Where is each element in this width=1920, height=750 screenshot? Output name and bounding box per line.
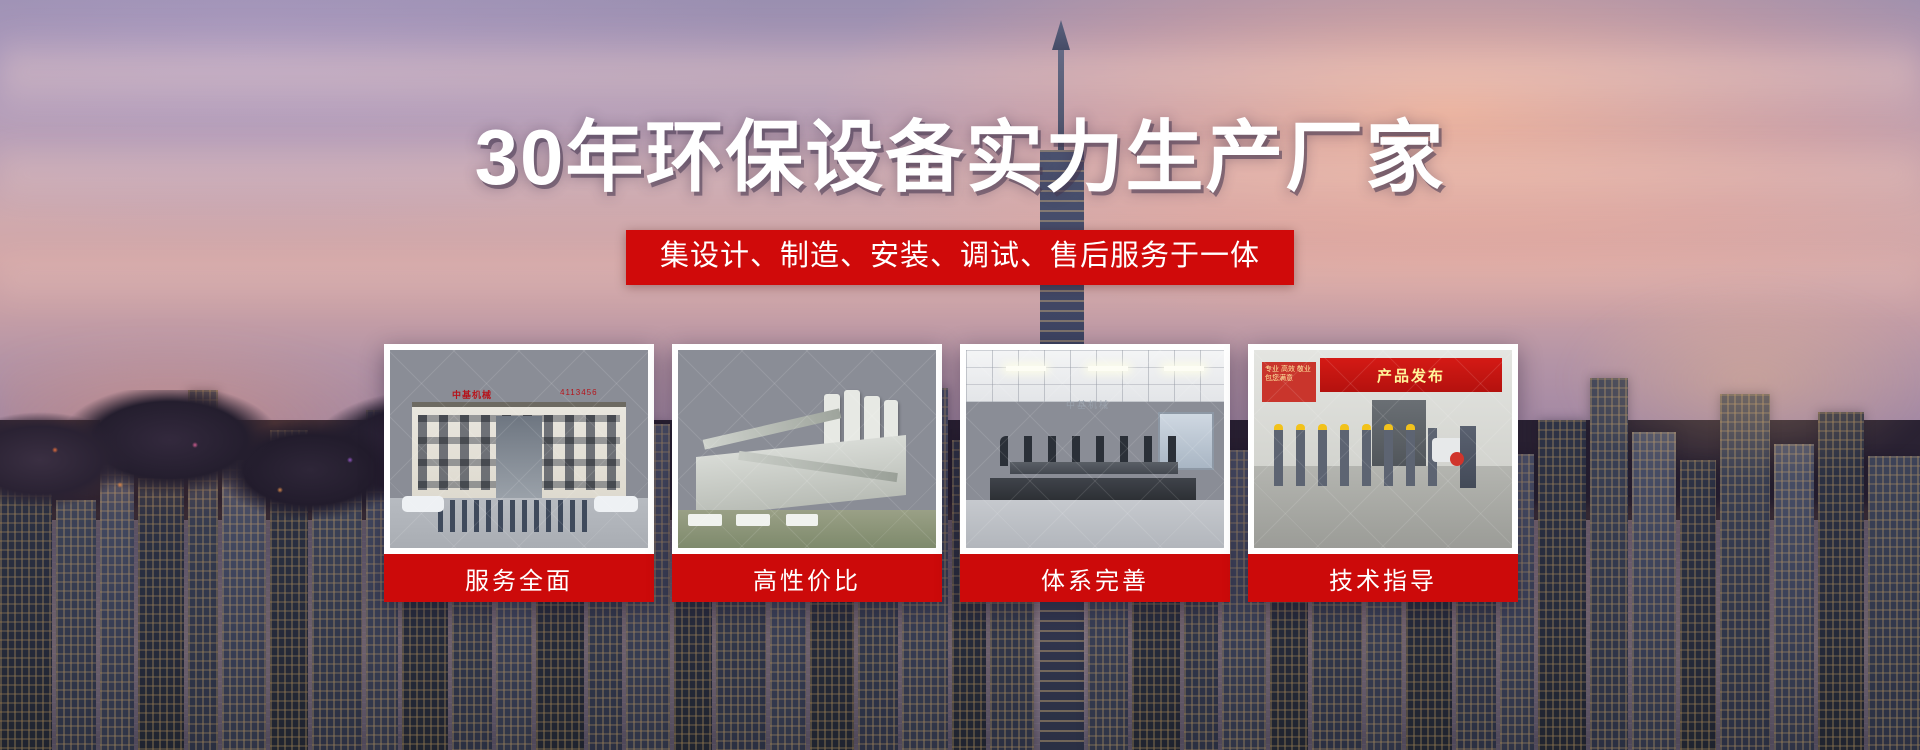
safety-helmet bbox=[1274, 424, 1283, 430]
card-caption: 服务全面 bbox=[384, 554, 654, 602]
wall-logo-text: 中基机械 bbox=[1066, 398, 1110, 411]
office-ceiling bbox=[966, 350, 1224, 402]
ceiling-light bbox=[1088, 366, 1128, 371]
hero-banner: 30年环保设备实力生产厂家 集设计、制造、安装、调试、售后服务于一体 中基机械 … bbox=[0, 0, 1920, 750]
workshop-red-banner: 产品发布 bbox=[1320, 358, 1502, 392]
safety-helmet bbox=[1340, 424, 1349, 430]
parked-car bbox=[594, 496, 638, 512]
truck bbox=[736, 514, 770, 526]
card-caption: 技术指导 bbox=[1248, 554, 1518, 602]
ceiling-light bbox=[1006, 366, 1046, 371]
feature-card[interactable]: 高性价比 bbox=[672, 344, 942, 602]
safety-helmet bbox=[1296, 424, 1305, 430]
city-night-glow bbox=[1560, 280, 1920, 480]
safety-helmet bbox=[1362, 424, 1371, 430]
safety-helmet bbox=[1318, 424, 1327, 430]
worker-group bbox=[1274, 428, 1440, 486]
page-title: 30年环保设备实力生产厂家 bbox=[0, 118, 1920, 196]
feature-card[interactable]: 专业 高效 敬业 包您满意 产品发布 技术指导 bbox=[1248, 344, 1518, 602]
feature-card[interactable]: 中基机械 体系完善 bbox=[960, 344, 1230, 602]
company-phone-text: 4113456 bbox=[560, 388, 598, 397]
tower-spire-tip bbox=[1052, 20, 1070, 50]
ceiling-light bbox=[1164, 366, 1204, 371]
silo-tank bbox=[844, 390, 860, 446]
feature-card-row: 中基机械 4113456 服务全面 bbox=[384, 344, 1536, 602]
building-entrance bbox=[496, 416, 542, 498]
truck bbox=[688, 514, 722, 526]
card-photo-office-building: 中基机械 4113456 bbox=[390, 350, 648, 548]
staff-lineup bbox=[438, 500, 588, 532]
parked-car bbox=[402, 496, 444, 512]
card-caption: 高性价比 bbox=[672, 554, 942, 602]
subtitle-ribbon: 集设计、制造、安装、调试、售后服务于一体 bbox=[626, 230, 1294, 285]
card-photo-factory-aerial bbox=[678, 350, 936, 548]
office-floor bbox=[966, 500, 1224, 548]
feature-card[interactable]: 中基机械 4113456 服务全面 bbox=[384, 344, 654, 602]
desk-partition bbox=[1010, 462, 1178, 474]
card-photo-open-office: 中基机械 bbox=[966, 350, 1224, 548]
workshop-side-slogan: 专业 高效 敬业 包您满意 bbox=[1262, 362, 1316, 402]
company-sign-text: 中基机械 bbox=[452, 388, 492, 401]
safety-helmet bbox=[1406, 424, 1415, 430]
cable-reel bbox=[1450, 452, 1464, 466]
safety-helmet bbox=[1384, 424, 1393, 430]
truck bbox=[786, 514, 818, 526]
office-desk bbox=[990, 478, 1196, 500]
card-photo-workshop-training: 专业 高效 敬业 包您满意 产品发布 bbox=[1254, 350, 1512, 548]
card-caption: 体系完善 bbox=[960, 554, 1230, 602]
